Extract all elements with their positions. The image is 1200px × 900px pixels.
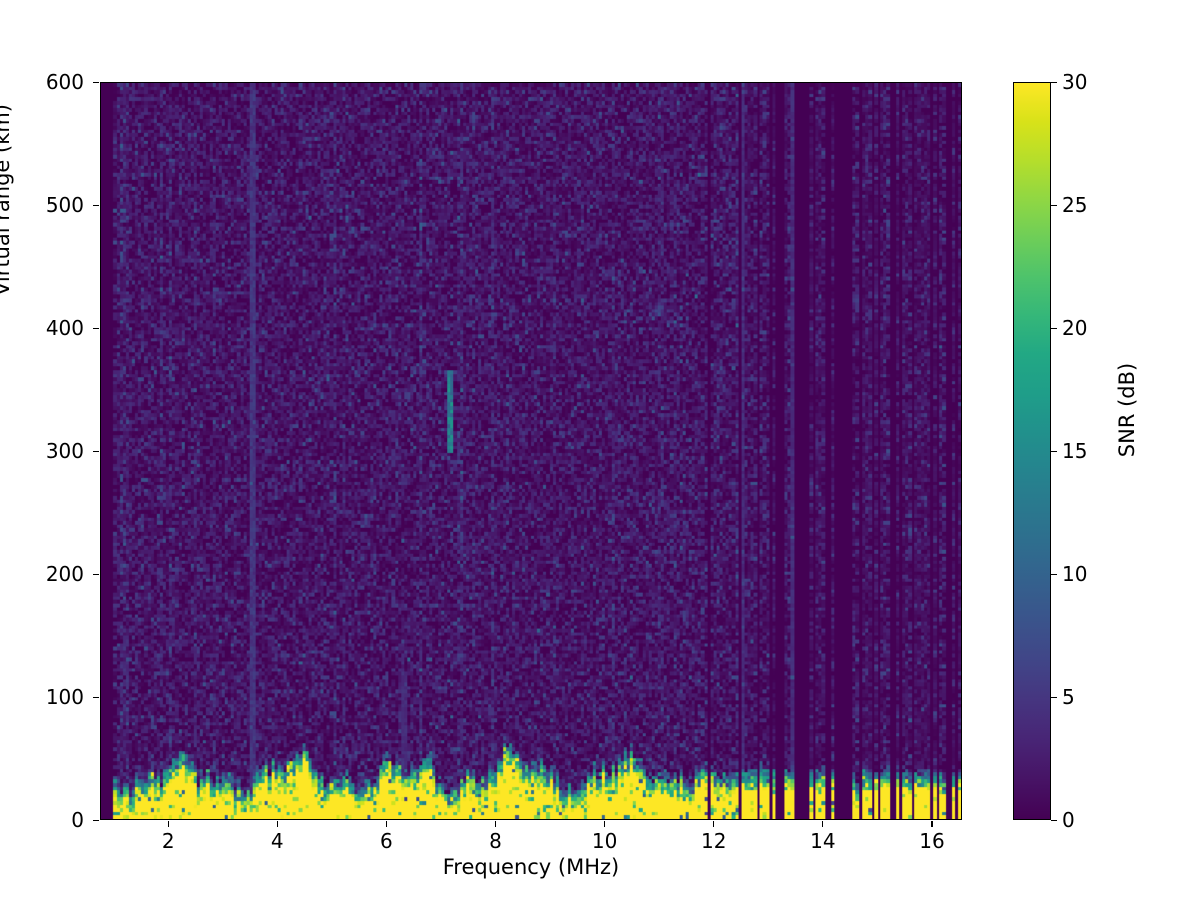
- x-tick-mark: [495, 821, 496, 827]
- x-tick-label: 14: [793, 831, 853, 851]
- y-tick-mark: [93, 205, 99, 206]
- colorbar: [1013, 82, 1051, 820]
- y-tick-mark: [93, 82, 99, 83]
- x-tick-mark: [604, 821, 605, 827]
- colorbar-tick-mark: [1051, 328, 1057, 329]
- x-tick-mark: [822, 821, 823, 827]
- y-tick-label: 600: [4, 72, 84, 92]
- colorbar-tick-mark: [1051, 82, 1057, 83]
- ionogram-figure: IRF Kiruna Ionosonde KI167 2025-10-15 19…: [0, 0, 1200, 900]
- plot-axes: [100, 82, 962, 820]
- x-tick-label: 2: [138, 831, 198, 851]
- x-tick-label: 6: [356, 831, 416, 851]
- colorbar-tick-label: 10: [1062, 564, 1122, 584]
- x-tick-mark: [168, 821, 169, 827]
- x-tick-label: 4: [247, 831, 307, 851]
- colorbar-tick-label: 0: [1062, 810, 1122, 830]
- y-tick-label: 500: [4, 195, 84, 215]
- y-tick-label: 400: [4, 318, 84, 338]
- y-tick-label: 0: [4, 810, 84, 830]
- y-tick-label: 100: [4, 687, 84, 707]
- colorbar-tick-mark: [1051, 574, 1057, 575]
- colorbar-tick-mark: [1051, 451, 1057, 452]
- y-tick-label: 200: [4, 564, 84, 584]
- y-tick-mark: [93, 574, 99, 575]
- x-tick-mark: [386, 821, 387, 827]
- y-tick-label: 300: [4, 441, 84, 461]
- x-tick-label: 8: [466, 831, 526, 851]
- y-tick-mark: [93, 451, 99, 452]
- colorbar-gradient: [1014, 83, 1050, 819]
- x-tick-label: 16: [902, 831, 962, 851]
- colorbar-tick-mark: [1051, 820, 1057, 821]
- colorbar-label: SNR (dB): [1115, 260, 1139, 560]
- y-tick-mark: [93, 697, 99, 698]
- y-tick-mark: [93, 820, 99, 821]
- y-tick-mark: [93, 328, 99, 329]
- ionogram-heatmap: [101, 83, 961, 819]
- x-axis-label: Frequency (MHz): [100, 855, 962, 879]
- x-tick-mark: [713, 821, 714, 827]
- x-tick-mark: [931, 821, 932, 827]
- colorbar-tick-label: 30: [1062, 72, 1122, 92]
- colorbar-tick-label: 15: [1062, 441, 1122, 461]
- colorbar-tick-label: 5: [1062, 687, 1122, 707]
- colorbar-tick-mark: [1051, 697, 1057, 698]
- x-tick-label: 10: [575, 831, 635, 851]
- colorbar-tick-mark: [1051, 205, 1057, 206]
- x-tick-mark: [277, 821, 278, 827]
- colorbar-tick-label: 25: [1062, 195, 1122, 215]
- x-tick-label: 12: [684, 831, 744, 851]
- colorbar-tick-label: 20: [1062, 318, 1122, 338]
